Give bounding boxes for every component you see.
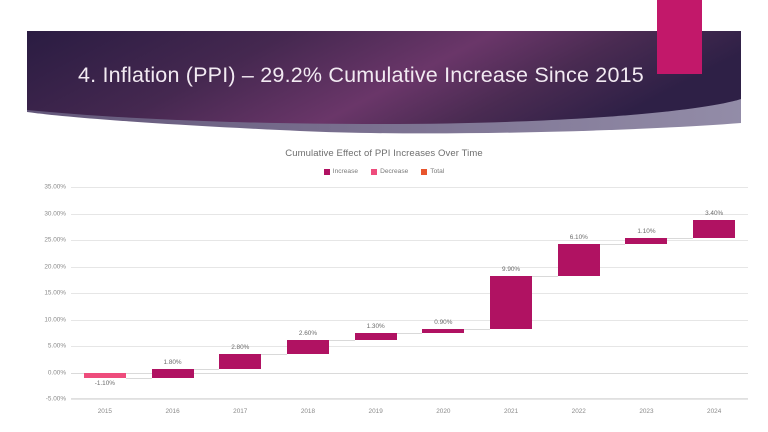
- x-axis-line: [71, 398, 748, 399]
- legend-item[interactable]: Decrease: [371, 168, 408, 175]
- slide-header: 4. Inflation (PPI) – 29.2% Cumulative In…: [0, 0, 768, 140]
- gridline: [71, 399, 748, 400]
- gridline: [71, 187, 748, 188]
- y-axis-tick-label: 0.00%: [48, 369, 66, 376]
- bar-data-label: 3.40%: [705, 210, 723, 217]
- y-axis-tick-label: 15.00%: [44, 290, 66, 297]
- x-axis-tick-label: 2019: [369, 408, 383, 415]
- bar-data-label: 1.80%: [163, 359, 181, 366]
- page-title: 4. Inflation (PPI) – 29.2% Cumulative In…: [78, 63, 644, 88]
- x-axis-tick-label: 2017: [233, 408, 247, 415]
- y-axis-tick-label: 35.00%: [44, 184, 66, 191]
- waterfall-chart: Cumulative Effect of PPI Increases Over …: [0, 140, 768, 432]
- bar-data-label: 1.30%: [367, 323, 385, 330]
- waterfall-bar[interactable]: [693, 220, 735, 238]
- bar-data-label: 1.10%: [637, 228, 655, 235]
- y-axis-tick-label: 20.00%: [44, 263, 66, 270]
- waterfall-bar[interactable]: [625, 238, 667, 244]
- chart-title: Cumulative Effect of PPI Increases Over …: [0, 148, 768, 159]
- y-axis-tick-label: 10.00%: [44, 316, 66, 323]
- legend-label: Total: [430, 168, 444, 175]
- waterfall-connector: [329, 340, 355, 341]
- waterfall-connector: [464, 329, 490, 330]
- legend-item[interactable]: Increase: [324, 168, 358, 175]
- y-axis-tick-label: 25.00%: [44, 237, 66, 244]
- banner-accent-block: [657, 0, 702, 74]
- legend-label: Increase: [333, 168, 358, 175]
- bar-data-label: 2.60%: [299, 330, 317, 337]
- x-axis-tick-label: 2015: [98, 408, 112, 415]
- waterfall-bar[interactable]: [219, 354, 261, 369]
- gridline: [71, 214, 748, 215]
- waterfall-bar[interactable]: [558, 244, 600, 276]
- bar-data-label: 6.10%: [570, 234, 588, 241]
- gridline: [71, 320, 748, 321]
- bar-data-label: 2.80%: [231, 344, 249, 351]
- waterfall-bar[interactable]: [490, 276, 532, 328]
- waterfall-connector: [126, 378, 152, 379]
- legend-label: Decrease: [380, 168, 408, 175]
- bar-data-label: 9.90%: [502, 266, 520, 273]
- legend-swatch-icon: [371, 169, 377, 175]
- bar-data-label: 0.90%: [434, 319, 452, 326]
- x-axis-tick-label: 2024: [707, 408, 721, 415]
- y-axis-tick-label: 30.00%: [44, 210, 66, 217]
- waterfall-connector: [600, 244, 626, 245]
- x-axis-tick-label: 2016: [165, 408, 179, 415]
- x-axis-tick-label: 2021: [504, 408, 518, 415]
- chart-plot-area: 35.00%30.00%25.00%20.00%15.00%10.00%5.00…: [71, 187, 748, 399]
- legend-swatch-icon: [324, 169, 330, 175]
- y-axis-tick-label: 5.00%: [48, 343, 66, 350]
- legend-swatch-icon: [421, 169, 427, 175]
- y-axis-tick-label: -5.00%: [46, 396, 66, 403]
- waterfall-connector: [532, 276, 558, 277]
- waterfall-bar[interactable]: [84, 373, 126, 379]
- waterfall-connector: [667, 238, 693, 239]
- x-axis-tick-label: 2022: [572, 408, 586, 415]
- x-axis-tick-label: 2023: [639, 408, 653, 415]
- bar-data-label: -1.10%: [95, 380, 115, 387]
- gridline: [71, 346, 748, 347]
- chart-legend: IncreaseDecreaseTotal: [0, 168, 768, 175]
- waterfall-bar[interactable]: [355, 333, 397, 340]
- x-axis-tick-label: 2020: [436, 408, 450, 415]
- legend-item[interactable]: Total: [421, 168, 444, 175]
- x-axis-tick-label: 2018: [301, 408, 315, 415]
- waterfall-bar[interactable]: [152, 369, 194, 379]
- waterfall-connector: [397, 333, 423, 334]
- waterfall-bar[interactable]: [287, 340, 329, 354]
- gridline: [71, 267, 748, 268]
- waterfall-connector: [194, 369, 220, 370]
- gridline: [71, 293, 748, 294]
- waterfall-connector: [261, 354, 287, 355]
- waterfall-bar[interactable]: [422, 329, 464, 334]
